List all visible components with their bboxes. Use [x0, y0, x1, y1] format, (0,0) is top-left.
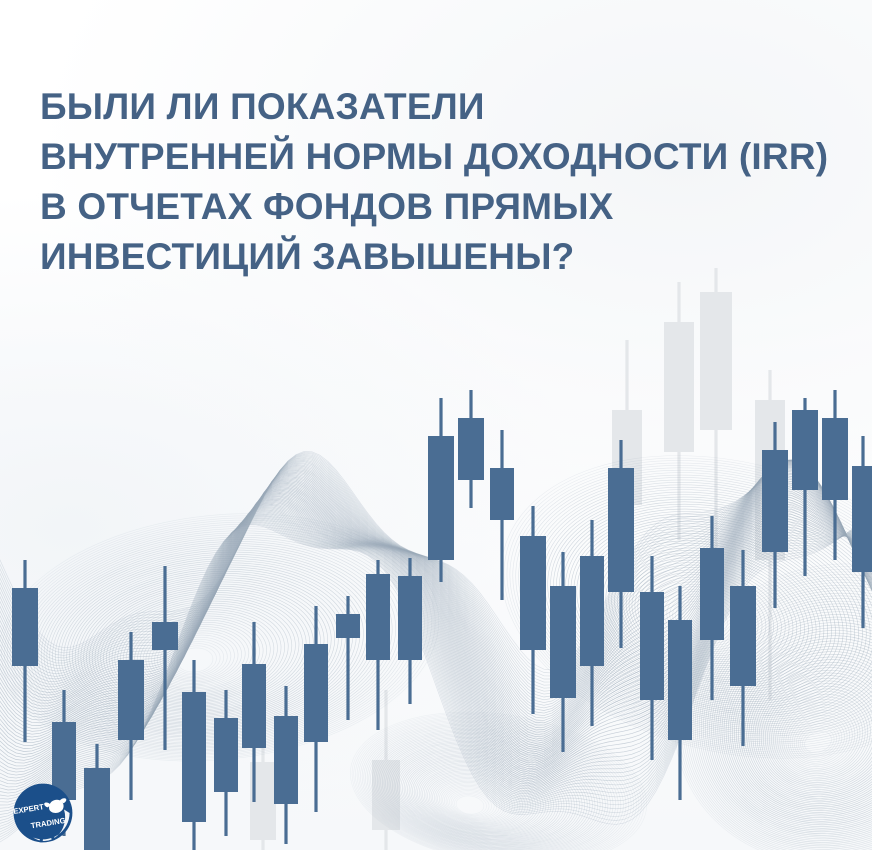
moire-ellipse — [469, 410, 872, 804]
moire-ellipse — [520, 457, 872, 764]
moire-ellipse — [31, 529, 394, 756]
wave-line — [0, 454, 872, 679]
moire-rosette — [340, 694, 656, 850]
moire-ellipse — [50, 544, 373, 746]
moire-ellipse — [125, 605, 278, 703]
moire-ellipse — [656, 550, 872, 850]
moire-ellipse — [375, 724, 605, 850]
wave-line — [0, 466, 872, 741]
moire-ellipse — [369, 720, 613, 850]
expert-trading-badge-icon: EXPERT TRADING — [8, 778, 78, 848]
moire-ellipse — [98, 583, 312, 719]
candle-wick — [531, 506, 534, 714]
wave-line — [0, 460, 872, 713]
candle-body — [274, 716, 298, 804]
moire-ellipse — [476, 416, 872, 798]
moire-ellipse — [662, 587, 745, 651]
moire-ellipse — [16, 517, 413, 765]
wave-line — [0, 470, 872, 748]
wave-line — [0, 456, 872, 685]
moire-ellipse — [779, 701, 860, 777]
moire-ellipse — [601, 531, 823, 699]
moire-ellipse — [736, 647, 872, 816]
candle-wick — [803, 398, 806, 576]
candle-body — [852, 466, 872, 572]
wave-line — [0, 484, 872, 765]
moire-ellipse — [415, 759, 545, 839]
candle-body — [214, 718, 238, 792]
moire-ellipse — [641, 568, 770, 666]
moire-ellipse — [634, 562, 778, 672]
moire-ellipse — [706, 610, 872, 843]
moire-ellipse — [71, 561, 346, 734]
moire-ellipse — [645, 571, 766, 664]
wave-line — [0, 519, 872, 836]
moire-ellipse — [420, 764, 537, 836]
candle-body — [612, 410, 642, 505]
moire-ellipse — [74, 563, 343, 732]
moire-ellipse — [479, 419, 872, 795]
moire-ellipse — [95, 580, 316, 720]
moire-ellipse — [695, 597, 872, 850]
headline-line-3: В ОТЧЕТАХ ФОНДОВ ПРЯМЫХ — [40, 182, 840, 232]
moire-ellipse — [116, 597, 290, 708]
moire-ellipse — [86, 573, 327, 725]
candle-wick — [314, 606, 317, 812]
moire-ellipse — [83, 571, 331, 727]
moire-ellipse — [453, 793, 488, 817]
moire-ellipse — [499, 438, 872, 779]
moire-ellipse — [371, 721, 610, 850]
wave-line — [0, 462, 872, 730]
moire-ellipse — [59, 551, 361, 741]
moire-ellipse — [22, 522, 406, 761]
wave-line — [0, 510, 872, 799]
moire-ellipse — [402, 748, 564, 847]
moire-ellipse — [404, 750, 561, 846]
moire-ellipse — [629, 516, 872, 850]
candle-body — [520, 536, 546, 650]
moire-ellipse — [523, 460, 872, 761]
moire-ellipse — [758, 674, 872, 796]
moire-ellipse — [785, 707, 854, 771]
moire-ellipse — [377, 726, 603, 850]
moire-ellipse — [419, 762, 540, 837]
candle-body — [366, 574, 390, 660]
wave-line — [0, 507, 872, 790]
moire-ellipse — [682, 605, 718, 634]
wave-line — [0, 516, 872, 817]
moire-ellipse — [393, 740, 578, 850]
moire-ellipse — [482, 423, 872, 793]
moire-ellipse — [670, 566, 872, 850]
moire-rosette — [629, 516, 872, 850]
wave-line — [0, 514, 872, 812]
moire-ellipse — [711, 617, 872, 838]
moire-ellipse — [665, 560, 872, 850]
moire-ellipse — [40, 537, 383, 751]
moire-ellipse — [631, 559, 783, 675]
moire-ellipse — [632, 519, 872, 850]
moire-ellipse — [658, 584, 748, 654]
moire-ellipse — [62, 554, 358, 739]
wave-line — [0, 465, 872, 739]
candle-wick — [773, 422, 776, 608]
moire-ellipse — [53, 546, 369, 744]
wave-line — [0, 492, 872, 772]
moire-ellipse — [173, 644, 218, 676]
moire-ellipse — [486, 426, 872, 791]
candle-body — [12, 588, 38, 666]
moire-ellipse — [13, 515, 417, 767]
candle-wick — [678, 586, 681, 800]
candle-wick — [590, 520, 593, 726]
moire-ellipse — [584, 516, 844, 713]
wave-line — [0, 457, 872, 688]
wave-line — [0, 520, 872, 830]
candle-wick — [677, 282, 680, 540]
wave-line — [0, 462, 872, 728]
moire-ellipse — [426, 769, 529, 833]
moire-ellipse — [727, 637, 872, 823]
moire-ellipse — [621, 550, 796, 683]
wave-line — [0, 494, 872, 774]
wave-line — [0, 461, 872, 725]
moire-ellipse — [399, 745, 570, 849]
wave-line — [0, 473, 872, 752]
moire-ellipse — [665, 590, 740, 648]
candle-wick — [768, 370, 771, 700]
moire-ellipse — [4, 507, 428, 771]
wave-line — [0, 518, 872, 839]
wave-line — [0, 518, 872, 824]
moire-ellipse — [472, 413, 872, 801]
moire-ellipse — [1, 505, 432, 773]
moire-ellipse — [433, 775, 518, 829]
moire-ellipse — [435, 777, 515, 828]
moire-ellipse — [164, 636, 229, 680]
moire-ellipse — [348, 701, 646, 850]
moire-ellipse — [540, 475, 872, 747]
moire-ellipse — [364, 715, 621, 850]
candle-body — [792, 410, 818, 490]
moire-ellipse — [80, 568, 335, 728]
moire-ellipse — [506, 444, 872, 774]
moire-ellipse — [771, 691, 870, 784]
candle-body — [182, 692, 206, 822]
moire-ellipse — [496, 435, 872, 782]
moire-ellipse — [386, 734, 589, 850]
moire-ellipse — [594, 525, 831, 704]
moire-ellipse — [697, 600, 872, 850]
moire-ellipse — [741, 654, 872, 811]
moire-ellipse — [176, 646, 214, 674]
candle-wick — [376, 560, 379, 730]
moire-ellipse — [692, 593, 872, 850]
wave-line — [0, 460, 872, 708]
moire-ellipse — [659, 553, 872, 850]
moire-ellipse — [557, 491, 872, 734]
moire-ellipse — [628, 556, 788, 678]
moire-ellipse — [570, 503, 861, 723]
moire-ellipse — [342, 696, 654, 850]
moire-ellipse — [101, 585, 309, 716]
moire-ellipse — [0, 498, 444, 779]
moire-ellipse — [89, 576, 324, 724]
moire-ellipse — [7, 510, 424, 770]
moire-ellipse — [760, 677, 872, 793]
candle-wick — [252, 622, 255, 802]
wave-line — [0, 506, 872, 787]
moire-ellipse — [489, 429, 872, 788]
candle-body — [550, 586, 576, 698]
moire-ellipse — [25, 524, 402, 759]
moire-ellipse — [0, 495, 447, 780]
moire-ellipse — [134, 612, 267, 698]
wave-line — [0, 517, 872, 821]
wave-line — [0, 490, 872, 770]
moire-ellipse — [362, 713, 624, 850]
moire-ellipse — [634, 523, 872, 850]
moire-ellipse — [400, 747, 566, 849]
candle-body — [608, 468, 634, 592]
moire-ellipse — [449, 789, 493, 819]
moire-ellipse — [110, 593, 297, 712]
moire-ellipse — [672, 596, 732, 642]
wave-line — [0, 461, 872, 723]
wave-line — [0, 461, 872, 703]
candle-wick — [261, 700, 264, 850]
moire-ellipse — [380, 729, 596, 850]
candle-wick — [619, 440, 622, 648]
moire-ellipse — [675, 573, 872, 850]
moire-ellipse — [167, 639, 226, 679]
candle-body — [336, 614, 360, 638]
wave-line — [0, 460, 872, 718]
moire-ellipse — [738, 650, 872, 813]
candle-wick — [163, 566, 166, 750]
candle-wick — [408, 558, 411, 704]
candle-wick — [500, 430, 503, 600]
moire-ellipse — [640, 529, 872, 850]
wave-line — [0, 505, 872, 784]
wave-line — [0, 452, 872, 673]
candle-wick — [95, 744, 98, 850]
wave-line — [0, 511, 872, 802]
candle-wick — [224, 690, 227, 836]
wave-line — [0, 513, 872, 808]
moire-ellipse — [533, 469, 872, 753]
moire-ellipse — [587, 519, 839, 710]
moire-ellipse — [0, 503, 436, 776]
wave-line — [0, 480, 872, 761]
moire-ellipse — [355, 707, 635, 850]
moire-ellipse — [379, 727, 600, 850]
moire-ellipse — [678, 576, 872, 850]
moire-ellipse — [131, 610, 271, 700]
moire-ellipse — [155, 629, 241, 686]
candle-wick — [833, 390, 836, 560]
candle-body — [304, 644, 328, 742]
moire-ellipse — [373, 723, 608, 850]
wave-line — [0, 463, 872, 732]
wave-line — [0, 469, 872, 746]
moire-ellipse — [406, 751, 559, 845]
wave-line — [0, 474, 872, 754]
moire-ellipse — [107, 590, 301, 713]
moire-ellipse — [550, 485, 872, 740]
candle-body — [458, 418, 484, 480]
moire-ellipse — [19, 520, 409, 763]
wave-line — [0, 516, 872, 845]
wave-line — [0, 461, 872, 698]
moire-ellipse — [796, 721, 841, 762]
moire-ellipse — [34, 532, 391, 755]
moire-ellipse — [158, 632, 237, 685]
wave-line — [0, 464, 872, 735]
moire-ellipse — [56, 549, 365, 743]
moire-ellipse — [782, 704, 857, 774]
moire-ellipse — [357, 708, 632, 850]
moire-ellipse — [0, 493, 451, 782]
wave-line — [0, 461, 872, 721]
moire-ellipse — [591, 522, 836, 707]
headline-line-4: ИНВЕСТИЦИЙ ЗАВЫШЕНЫ? — [40, 232, 840, 282]
moire-ellipse — [700, 603, 872, 847]
candle-body — [250, 762, 276, 840]
candle-body — [700, 548, 724, 640]
candle-wick — [650, 556, 653, 760]
candle-body — [822, 418, 848, 500]
wave-line — [0, 460, 872, 715]
moire-ellipse — [10, 512, 421, 768]
candle-wick — [710, 516, 713, 700]
moire-ellipse — [113, 595, 293, 710]
candle-body — [490, 468, 514, 520]
moire-ellipse — [643, 533, 872, 850]
page-title: БЫЛИ ЛИ ПОКАЗАТЕЛИ ВНУТРЕННЕЙ НОРМЫ ДОХО… — [40, 82, 840, 282]
moire-rosette — [469, 410, 872, 804]
moire-ellipse — [389, 737, 583, 850]
candle-wick — [741, 550, 744, 746]
moire-ellipse — [128, 607, 275, 701]
wave-line — [0, 508, 872, 793]
moire-ellipse — [382, 731, 594, 850]
wave-line — [0, 461, 872, 700]
moire-ellipse — [645, 536, 872, 850]
moire-ellipse — [744, 657, 872, 808]
moire-ellipse — [391, 739, 580, 850]
moire-ellipse — [43, 539, 379, 749]
moire-ellipse — [503, 441, 872, 777]
moire-ellipse — [749, 664, 872, 804]
moire-ellipse — [651, 578, 757, 659]
candle-body — [152, 622, 178, 650]
moire-ellipse — [675, 599, 727, 640]
moire-ellipse — [349, 702, 643, 850]
moire-ellipse — [790, 714, 847, 766]
candle-body — [372, 760, 400, 830]
moire-ellipse — [143, 619, 256, 692]
candle-body — [762, 450, 788, 552]
moire-ellipse — [413, 758, 548, 841]
moire-ellipse — [648, 574, 762, 661]
wave-line — [0, 460, 872, 711]
wave-line — [0, 517, 872, 842]
moire-ellipse — [607, 537, 813, 693]
moire-ellipse — [77, 566, 339, 731]
moire-ellipse — [763, 680, 872, 790]
moire-ellipse — [624, 553, 792, 680]
moire-ellipse — [719, 627, 872, 830]
candle-body — [84, 768, 110, 850]
moire-ellipse — [668, 593, 735, 645]
moire-ellipse — [161, 634, 233, 682]
candle-body — [118, 660, 144, 740]
wave-line — [0, 477, 872, 757]
candle-body — [640, 592, 664, 700]
candle-wick — [469, 390, 472, 508]
candle-wick — [861, 436, 864, 628]
moire-ellipse — [655, 581, 753, 656]
moire-ellipse — [768, 687, 872, 786]
moire-ellipse — [137, 615, 263, 697]
candle-wick — [129, 632, 132, 800]
moire-ellipse — [654, 546, 872, 850]
moire-ellipse — [777, 697, 864, 778]
candle-wick — [284, 686, 287, 844]
moire-ellipse — [733, 644, 872, 818]
wave-line — [0, 479, 872, 759]
brand-logo[interactable]: EXPERT TRADING — [8, 778, 78, 848]
moire-ellipse — [662, 556, 872, 850]
moire-ellipse — [409, 754, 553, 842]
moire-ellipse — [388, 735, 586, 850]
moire-ellipse — [68, 559, 350, 736]
moire-ellipse — [451, 791, 490, 818]
wave-line — [0, 471, 872, 749]
candle-wick — [561, 552, 564, 752]
moire-ellipse — [353, 705, 638, 850]
moire-ellipse — [509, 447, 872, 771]
moire-ellipse — [384, 732, 591, 850]
candle-body — [730, 586, 756, 686]
moire-ellipse — [397, 743, 573, 850]
wave-line — [0, 475, 872, 755]
moire-ellipse — [439, 780, 510, 826]
moire-ellipse — [799, 724, 838, 759]
candle-wick — [23, 560, 26, 742]
moire-ellipse — [638, 565, 775, 669]
moire-ellipse — [440, 781, 507, 824]
moire-ellipse — [708, 613, 872, 840]
moire-ellipse — [104, 588, 305, 715]
candle-wick — [384, 690, 387, 850]
moire-ellipse — [429, 772, 523, 831]
wave-line — [0, 482, 872, 763]
wave-line — [0, 452, 872, 670]
moire-ellipse — [530, 466, 872, 755]
moire-ellipse — [788, 711, 851, 769]
wave-line — [0, 458, 872, 691]
moire-ellipse — [553, 488, 872, 737]
moire-ellipse — [667, 563, 872, 850]
moire-ellipse — [170, 641, 222, 677]
moire-ellipse — [368, 718, 616, 850]
moire-ellipse — [493, 432, 872, 785]
candle-body — [580, 556, 604, 666]
wave-line — [0, 459, 872, 694]
